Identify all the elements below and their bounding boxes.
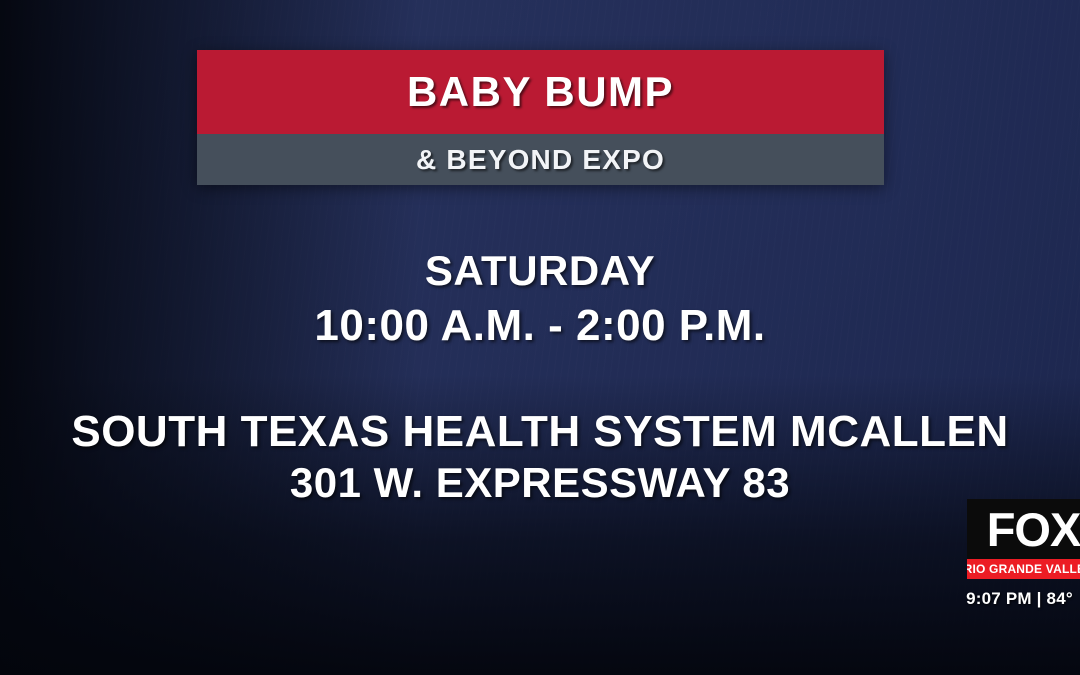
market-name: RIO GRANDE VALLEY [967, 563, 1080, 575]
event-day: SATURDAY [0, 250, 1080, 292]
banner-primary-band: BABY BUMP [197, 50, 884, 134]
title-banner: BABY BUMP & BEYOND EXPO [197, 50, 884, 185]
event-subtitle: & BEYOND EXPO [416, 144, 665, 176]
clock-temperature-readout: 9:07 PM | 84° [963, 589, 1076, 609]
station-bug: FOX RIO GRANDE VALLEY 9:07 PM | 84° [967, 499, 1080, 579]
event-title: BABY BUMP [407, 68, 674, 116]
event-venue: SOUTH TEXAS HEALTH SYSTEM MCALLEN [0, 410, 1080, 454]
broadcast-graphic-frame: BABY BUMP & BEYOND EXPO SATURDAY 10:00 A… [0, 0, 1080, 675]
event-time: 10:00 A.M. - 2:00 P.M. [0, 304, 1080, 348]
network-logo-box: FOX [967, 499, 1080, 559]
event-address: 301 W. EXPRESSWAY 83 [0, 462, 1080, 504]
banner-secondary-band: & BEYOND EXPO [197, 134, 884, 185]
details-spacer [0, 348, 1080, 410]
event-details-block: SATURDAY 10:00 A.M. - 2:00 P.M. SOUTH TE… [0, 250, 1080, 504]
market-band: RIO GRANDE VALLEY [967, 559, 1080, 579]
network-name: FOX [987, 506, 1080, 553]
